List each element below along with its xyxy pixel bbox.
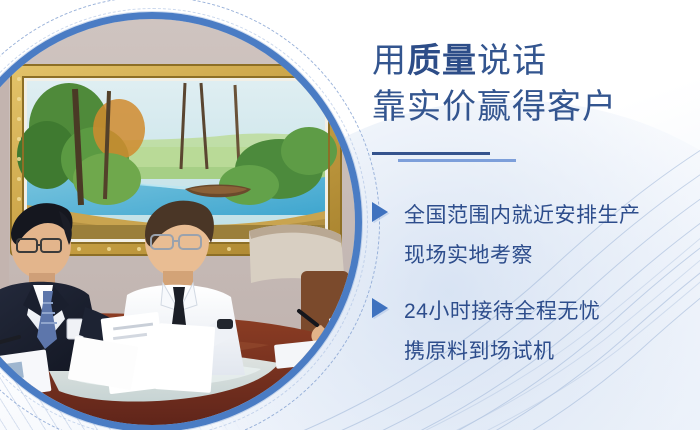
feature-text: 24小时接待全程无忧: [404, 292, 700, 332]
feature-text: 携原料到场试机: [404, 332, 700, 372]
promo-banner: 用质量说话 靠实价赢得客户 全国范围内就近安排生产: [0, 0, 700, 430]
headline-line-1-prefix: 用: [372, 42, 407, 80]
list-item: 24小时接待全程无忧 携原料到场试机: [370, 292, 700, 372]
feature-text: 现场实地考察: [404, 236, 700, 276]
feature-text: 全国范围内就近安排生产: [404, 196, 700, 236]
divider-light-line: [398, 159, 516, 162]
triangle-right-icon: [370, 196, 404, 223]
hero-photo-frame: [0, 12, 362, 430]
headline-line-1: 用质量说话: [372, 38, 692, 84]
headline: 用质量说话 靠实价赢得客户: [372, 38, 692, 130]
headline-divider: [372, 150, 552, 164]
headline-line-2: 靠实价赢得客户: [372, 84, 692, 130]
feature-list: 全国范围内就近安排生产 现场实地考察 24小时接待全程无忧 携: [370, 196, 700, 388]
triangle-right-icon: [370, 292, 404, 319]
headline-line-1-suffix: 说话: [477, 42, 547, 80]
list-item: 全国范围内就近安排生产 现场实地考察: [370, 196, 700, 276]
headline-line-1-strong: 质量: [407, 42, 477, 80]
divider-dark-line: [372, 152, 490, 155]
content-panel: 用质量说话 靠实价赢得客户 全国范围内就近安排生产: [370, 0, 700, 430]
